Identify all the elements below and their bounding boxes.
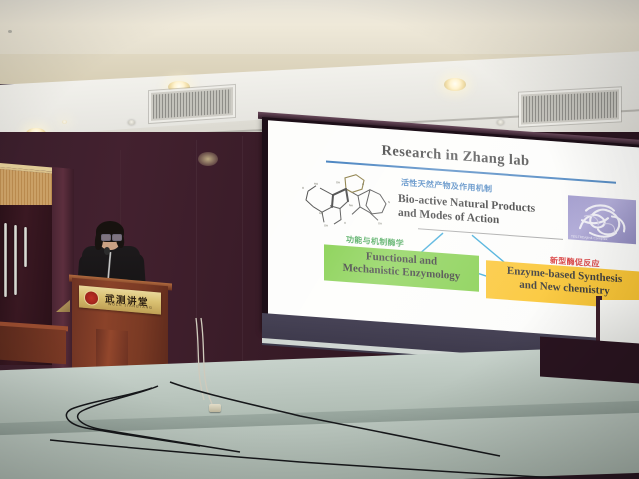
ceiling-upper-soffit xyxy=(0,0,639,62)
wall-light-reflection xyxy=(198,152,218,166)
smoke-detector-icon xyxy=(8,30,12,33)
door-handle-icon[interactable] xyxy=(14,225,17,295)
power-adapter xyxy=(209,404,221,412)
air-vent-grille xyxy=(149,85,235,123)
eyeglasses-icon xyxy=(101,234,120,239)
sprinkler-head-icon xyxy=(497,120,504,125)
downlight-icon xyxy=(444,78,466,91)
air-vent-grille xyxy=(519,87,621,126)
sprinkler-head-icon xyxy=(128,120,135,125)
eyeglass-lens-left xyxy=(101,234,111,241)
floor-cables xyxy=(0,300,639,479)
vent-slats xyxy=(523,92,617,123)
vent-slats xyxy=(153,89,231,118)
eyeglass-lens-right xyxy=(112,234,122,241)
microphone-icon xyxy=(104,247,110,255)
door-handle-icon[interactable] xyxy=(24,227,27,267)
door-handle-icon[interactable] xyxy=(4,223,7,297)
lecture-hall-photo: Research in Zhang lab xyxy=(0,0,639,479)
downlight-icon xyxy=(62,120,67,124)
